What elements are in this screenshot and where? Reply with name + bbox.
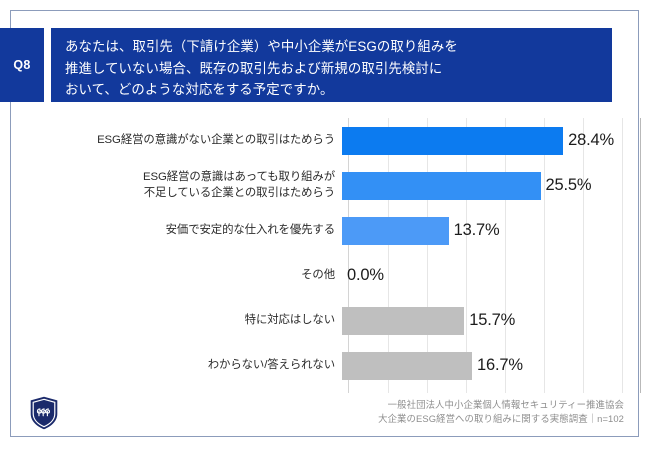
chart-row: ESG経営の意識はあっても取り組みが 不足している企業との取引はためらう25.5… <box>12 163 640 208</box>
bar-value-label: 16.7% <box>472 356 523 375</box>
bar <box>342 127 563 155</box>
bar-container: 15.7% <box>342 298 640 343</box>
chart-row: ESG経営の意識がない企業との取引はためらう28.4% <box>12 118 640 163</box>
bar <box>342 217 449 245</box>
category-label: その他 <box>12 268 342 283</box>
bar-value-label: 28.4% <box>563 131 614 150</box>
category-label: ESG経営の意識がない企業との取引はためらう <box>12 133 342 148</box>
source-credit: 一般社団法人中小企業個人情報セキュリティー推進協会 大企業のESG経営への取り組… <box>378 398 624 426</box>
bar <box>342 352 472 380</box>
bar-value-label: 15.7% <box>464 311 515 330</box>
bar <box>342 307 464 335</box>
bar-container: 0.0% <box>342 253 640 298</box>
category-label: わからない/答えられない <box>12 358 342 373</box>
source-line-2: 大企業のESG経営への取り組みに関する実態調査｜n=102 <box>378 412 624 426</box>
bar-chart: ESG経営の意識がない企業との取引はためらう28.4%ESG経営の意識はあっても… <box>12 118 640 393</box>
question-text: あなたは、取引先（下請け企業）や中小企業がESGの取り組みを 推進していない場合… <box>51 28 612 102</box>
chart-row: わからない/答えられない16.7% <box>12 343 640 388</box>
bar <box>342 172 541 200</box>
bar-container: 25.5% <box>342 163 640 208</box>
question-header: Q8 あなたは、取引先（下請け企業）や中小企業がESGの取り組みを 推進していな… <box>0 28 612 102</box>
source-line-1: 一般社団法人中小企業個人情報セキュリティー推進協会 <box>378 398 624 412</box>
chart-row: その他0.0% <box>12 253 640 298</box>
chart-row: 安価で安定的な仕入れを優先する13.7% <box>12 208 640 253</box>
bar-value-label: 25.5% <box>541 176 592 195</box>
bar-value-label: 0.0% <box>342 266 384 285</box>
category-label: 安価で安定的な仕入れを優先する <box>12 223 342 238</box>
slide-footer: 一般社団法人中小企業個人情報セキュリティー推進協会 大企業のESG経営への取り組… <box>0 396 650 438</box>
category-label: ESG経営の意識はあっても取り組みが 不足している企業との取引はためらう <box>12 170 342 200</box>
slide-root: Q8 あなたは、取引先（下請け企業）や中小企業がESGの取り組みを 推進していな… <box>0 0 650 450</box>
bar-container: 13.7% <box>342 208 640 253</box>
category-label: 特に対応はしない <box>12 313 342 328</box>
sp2-shield-logo <box>29 396 59 430</box>
question-number-badge: Q8 <box>0 28 44 102</box>
bar-container: 16.7% <box>342 343 640 388</box>
bar-value-label: 13.7% <box>449 221 500 240</box>
bar-container: 28.4% <box>342 118 640 163</box>
chart-row: 特に対応はしない15.7% <box>12 298 640 343</box>
plot-right-edge <box>640 118 641 393</box>
